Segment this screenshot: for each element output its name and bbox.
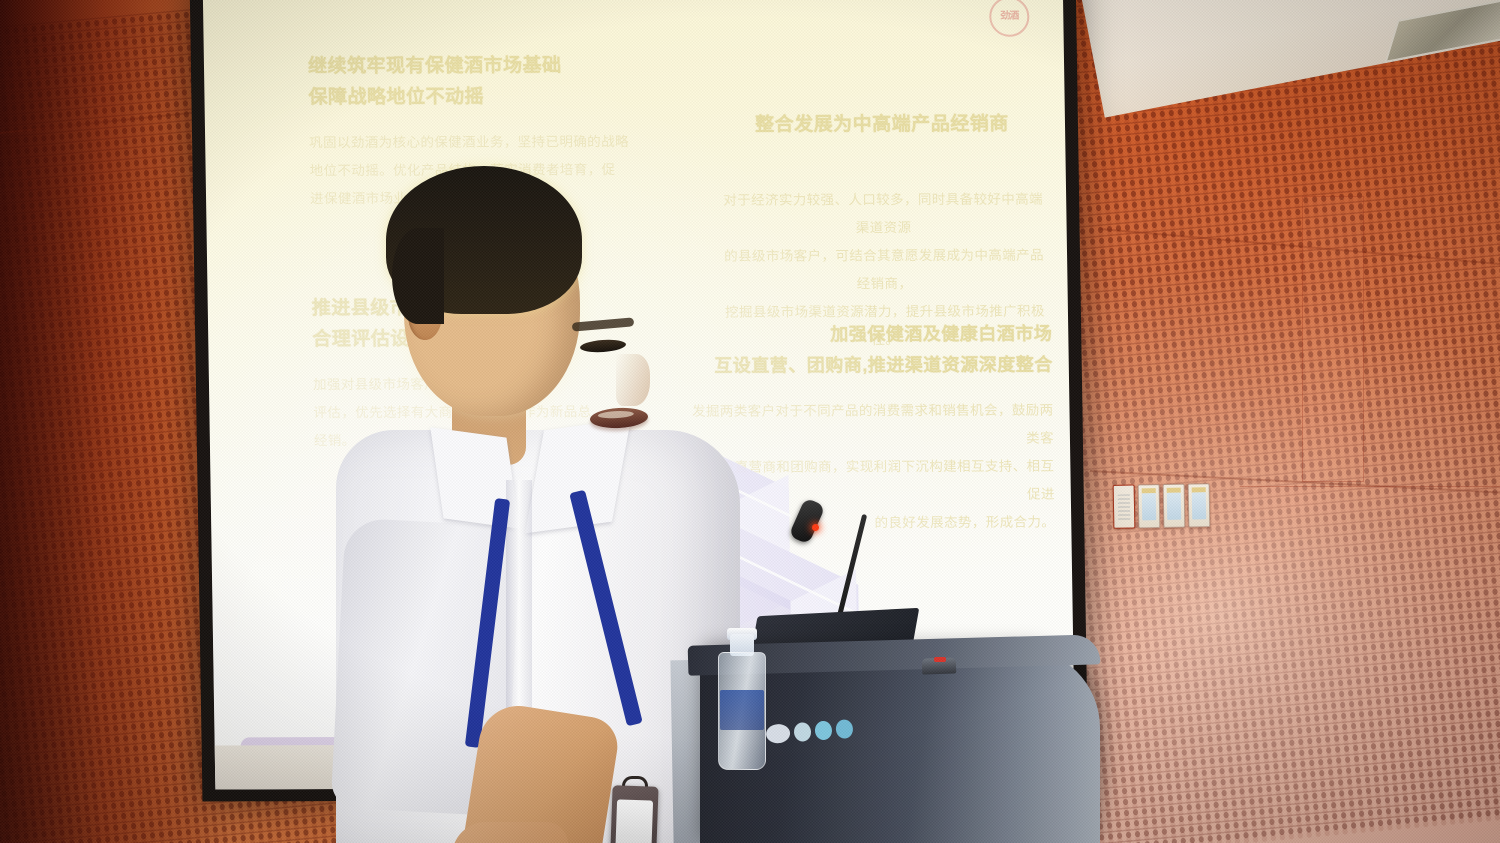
block-body-line: 的县级市场客户，可结合其意愿发展成为中高端产品经销商，	[719, 242, 1050, 299]
mic-base-led-icon	[934, 657, 946, 662]
bottle-label	[720, 690, 764, 730]
mouth	[590, 406, 649, 429]
block-heading-line: 继续筑牢现有保健酒市场基础	[308, 50, 639, 82]
wall-control-panel-4[interactable]	[1188, 483, 1211, 527]
block-heading-line: 整合发展为中高端产品经销商	[717, 109, 1048, 141]
nose	[616, 354, 650, 406]
presenter-hair	[386, 166, 582, 314]
mic-power-led-icon	[812, 524, 819, 531]
presenter-hand	[452, 822, 568, 843]
brand-stamp-icon: 劲酒	[989, 0, 1030, 37]
presentation-photo: 构建县级市场复合式渠道结构 劲酒 继续筑牢现有保健酒市场基础 保障战略地位不动摇…	[0, 0, 1500, 843]
presenter-id-badge	[609, 785, 658, 843]
block-heading-line: 保障战略地位不动摇	[308, 81, 639, 113]
eye	[580, 338, 627, 353]
wall-panel-outline	[1240, 486, 1500, 512]
wall-control-panel-2[interactable]	[1138, 484, 1161, 528]
wall-control-panel-3[interactable]	[1163, 484, 1186, 528]
acoustic-wall-right	[1060, 0, 1500, 843]
wall-panel-outline	[1302, 196, 1364, 482]
wall-control-panel-1[interactable]	[1113, 484, 1136, 528]
block-body-line: 对于经济实力较强、人口较多，同时具备较好中高端渠道资源	[718, 186, 1049, 243]
slide-title: 构建县级市场复合式渠道结构	[306, 0, 947, 3]
wall-switch-bank[interactable]	[1113, 483, 1211, 529]
eyebrow	[572, 317, 635, 331]
